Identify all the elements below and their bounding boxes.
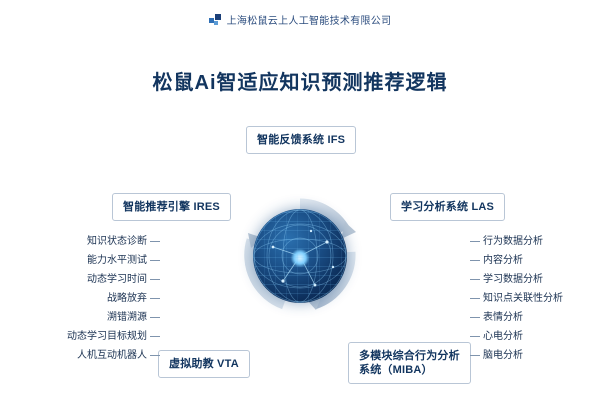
center-graphic bbox=[240, 196, 360, 316]
list-item: 学习数据分析 bbox=[470, 270, 590, 289]
list-item: 行为数据分析 bbox=[470, 232, 590, 251]
list-item: 内容分析 bbox=[470, 251, 590, 270]
list-item: 溯错溯源 bbox=[48, 308, 160, 327]
node-ifs[interactable]: 智能反馈系统 IFS bbox=[246, 126, 356, 154]
company-name: 上海松鼠云上人工智能技术有限公司 bbox=[227, 12, 392, 27]
list-item: 知识状态诊断 bbox=[48, 232, 160, 251]
node-las[interactable]: 学习分析系统 LAS bbox=[390, 193, 505, 221]
diagram-page: 上海松鼠云上人工智能技术有限公司 松鼠Ai智适应知识预测推荐逻辑 bbox=[0, 0, 600, 401]
list-item: 能力水平测试 bbox=[48, 251, 160, 270]
list-item: 人机互动机器人 bbox=[48, 346, 160, 365]
list-item: 表情分析 bbox=[470, 308, 590, 327]
list-item: 战略放弃 bbox=[48, 289, 160, 308]
node-miba[interactable]: 多模块综合行为分析 系统（MIBA） bbox=[348, 342, 471, 384]
squares-logo-icon bbox=[209, 14, 221, 26]
left-feature-list: 知识状态诊断 能力水平测试 动态学习时间 战略放弃 溯错溯源 动态学习目标规划 … bbox=[48, 232, 160, 365]
globe-network-icon bbox=[253, 209, 347, 303]
node-ires[interactable]: 智能推荐引擎 IRES bbox=[112, 193, 231, 221]
globe-core-glow bbox=[291, 249, 309, 267]
page-title: 松鼠Ai智适应知识预测推荐逻辑 bbox=[0, 66, 600, 95]
list-item: 知识点关联性分析 bbox=[470, 289, 590, 308]
brand-header: 上海松鼠云上人工智能技术有限公司 bbox=[0, 12, 600, 27]
list-item: 脑电分析 bbox=[470, 346, 590, 365]
right-feature-list: 行为数据分析 内容分析 学习数据分析 知识点关联性分析 表情分析 心电分析 脑电… bbox=[470, 232, 590, 365]
list-item: 动态学习时间 bbox=[48, 270, 160, 289]
node-vta[interactable]: 虚拟助教 VTA bbox=[158, 350, 250, 378]
list-item: 动态学习目标规划 bbox=[48, 327, 160, 346]
list-item: 心电分析 bbox=[470, 327, 590, 346]
